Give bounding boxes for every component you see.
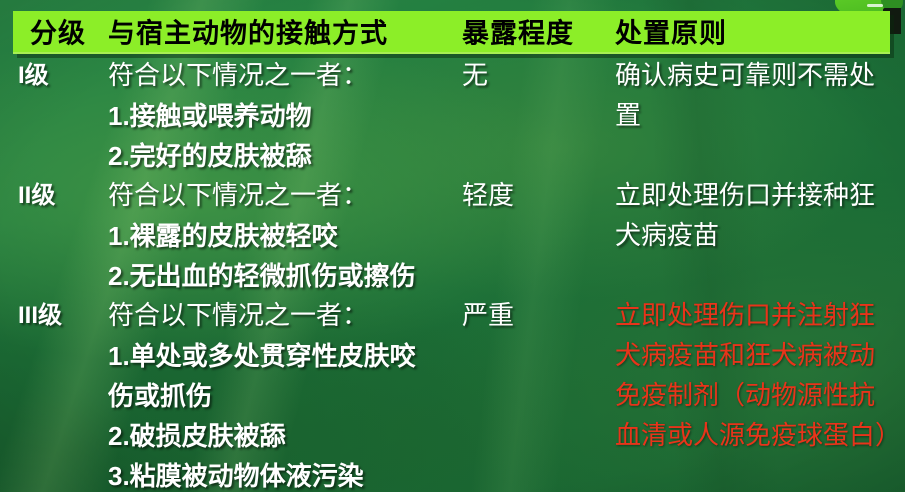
grade-label: I级 xyxy=(18,56,104,96)
contact-item: 3.粘膜被动物体液污染 xyxy=(108,456,456,492)
contact-item: 1.单处或多处贯穿性皮肤咬 xyxy=(108,336,456,376)
cell-grade: II级 xyxy=(18,176,104,216)
table-row: III级 符合以下情况之一者： 1.单处或多处贯穿性皮肤咬 伤或抓伤 2.破损皮… xyxy=(0,296,905,492)
table-header-row: 分级 与宿主动物的接触方式 暴露程度 处置原则 xyxy=(13,11,890,52)
header-cell-action: 处置原则 xyxy=(615,11,727,50)
contact-item: 2.完好的皮肤被舔 xyxy=(108,136,456,176)
action-line: 确认病史可靠则不需处 xyxy=(615,56,895,96)
cell-action: 确认病史可靠则不需处 置 xyxy=(615,56,895,136)
exposure-level: 无 xyxy=(462,56,610,96)
cell-exposure: 轻度 xyxy=(462,176,610,216)
contact-intro: 符合以下情况之一者： xyxy=(108,56,456,96)
header-cell-contact: 与宿主动物的接触方式 xyxy=(108,11,388,50)
action-line: 犬病疫苗和狂犬病被动 xyxy=(615,336,895,376)
corner-highlight-accent xyxy=(867,4,883,7)
table-body: I级 符合以下情况之一者： 1.接触或喂养动物 2.完好的皮肤被舔 无 确认病史… xyxy=(0,56,905,492)
cell-contact: 符合以下情况之一者： 1.单处或多处贯穿性皮肤咬 伤或抓伤 2.破损皮肤被舔 3… xyxy=(108,296,456,492)
contact-item: 2.无出血的轻微抓伤或擦伤 xyxy=(108,256,456,296)
cell-grade: I级 xyxy=(18,56,104,96)
header-cell-exposure: 暴露程度 xyxy=(462,11,574,50)
contact-item: 1.接触或喂养动物 xyxy=(108,96,456,136)
table-header-bar: 分级 与宿主动物的接触方式 暴露程度 处置原则 xyxy=(13,11,890,54)
cell-contact: 符合以下情况之一者： 1.裸露的皮肤被轻咬 2.无出血的轻微抓伤或擦伤 xyxy=(108,176,456,296)
cell-contact: 符合以下情况之一者： 1.接触或喂养动物 2.完好的皮肤被舔 xyxy=(108,56,456,176)
contact-item: 2.破损皮肤被舔 xyxy=(108,416,456,456)
cell-exposure: 严重 xyxy=(462,296,610,336)
action-line: 犬病疫苗 xyxy=(615,216,895,256)
contact-item: 伤或抓伤 xyxy=(108,376,456,416)
cell-grade: III级 xyxy=(18,296,104,336)
contact-intro: 符合以下情况之一者： xyxy=(108,176,456,216)
table-row: II级 符合以下情况之一者： 1.裸露的皮肤被轻咬 2.无出血的轻微抓伤或擦伤 … xyxy=(0,176,905,296)
action-line: 血清或人源免疫球蛋白） xyxy=(615,416,895,456)
action-line: 置 xyxy=(615,96,895,136)
header-cell-grade: 分级 xyxy=(30,11,86,50)
cell-action: 立即处理伤口并注射狂 犬病疫苗和狂犬病被动 免疫制剂（动物源性抗 血清或人源免疫… xyxy=(615,296,895,456)
grade-label: II级 xyxy=(18,176,104,216)
slide-canvas: 分级 与宿主动物的接触方式 暴露程度 处置原则 I级 符合以下情况之一者： 1.… xyxy=(0,0,905,492)
exposure-level: 严重 xyxy=(462,296,610,336)
action-line: 立即处理伤口并注射狂 xyxy=(615,296,895,336)
action-line: 立即处理伤口并接种狂 xyxy=(615,176,895,216)
table-row: I级 符合以下情况之一者： 1.接触或喂养动物 2.完好的皮肤被舔 无 确认病史… xyxy=(0,56,905,176)
grade-label: III级 xyxy=(18,296,104,336)
contact-item: 1.裸露的皮肤被轻咬 xyxy=(108,216,456,256)
cell-action: 立即处理伤口并接种狂 犬病疫苗 xyxy=(615,176,895,256)
exposure-level: 轻度 xyxy=(462,176,610,216)
contact-intro: 符合以下情况之一者： xyxy=(108,296,456,336)
action-line: 免疫制剂（动物源性抗 xyxy=(615,376,895,416)
cell-exposure: 无 xyxy=(462,56,610,96)
